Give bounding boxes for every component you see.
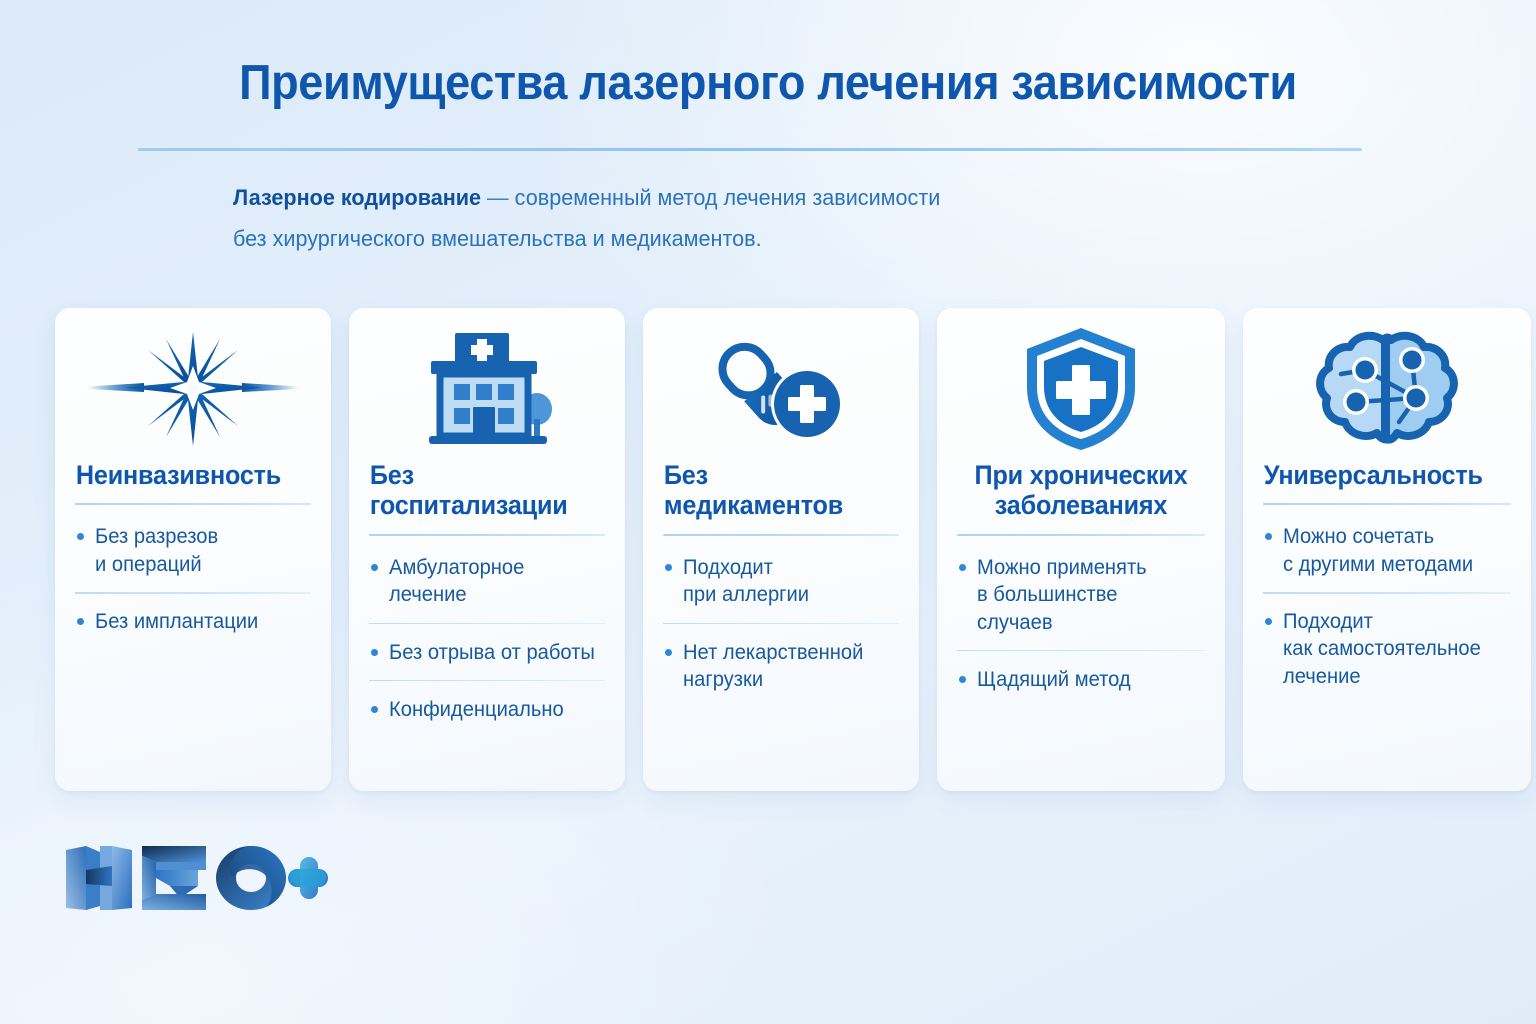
bullet-dot-icon — [959, 564, 966, 571]
card-title-divider — [1263, 503, 1511, 505]
card-title-divider — [663, 534, 899, 536]
bullet-text: Без разрезови операций — [95, 523, 218, 578]
benefit-card-row: Неинвазивность Без разрезови операций Бе… — [55, 308, 1483, 791]
bullet-dot-icon — [371, 706, 378, 713]
bullet-dot-icon — [959, 676, 966, 683]
bullet-dot-icon — [77, 618, 84, 625]
bullet-text: Без имплантации — [95, 608, 258, 635]
list-item: Подходитпри аллергии — [663, 538, 899, 609]
card-icon-zone — [1243, 308, 1531, 460]
list-item: Амбулаторноелечение — [369, 538, 605, 609]
list-item: Без разрезови операций — [75, 507, 311, 578]
subtitle-dash: — — [481, 185, 515, 210]
list-item: Можно сочетатьс другими методами — [1263, 507, 1511, 578]
list-item: Нет лекарственнойнагрузки — [663, 623, 899, 694]
card-title: Универсальность — [1243, 460, 1517, 490]
card-title: Без госпитализации — [349, 460, 611, 521]
neo-plus-logo-icon — [60, 838, 330, 918]
card-bullet-list: Подходитпри аллергии Нет лекарственнойна… — [643, 538, 919, 693]
card-title: Без медикаментов — [643, 460, 905, 521]
card-title: Неинвазивность — [55, 460, 317, 490]
pills-icon — [706, 328, 856, 450]
bullet-text: Конфиденциально — [389, 696, 564, 723]
card-icon-zone — [349, 308, 625, 460]
list-item: Конфиденциально — [369, 680, 605, 723]
benefit-card-noninvasive[interactable]: Неинвазивность Без разрезови операций Бе… — [55, 308, 331, 791]
bullet-text: Подходитпри аллергии — [683, 554, 809, 609]
bullet-dot-icon — [371, 564, 378, 571]
bullet-dot-icon — [1265, 533, 1272, 540]
bullet-text: Без отрыва от работы — [389, 639, 595, 666]
benefit-card-universality[interactable]: Универсальность Можно сочетатьс другими … — [1243, 308, 1531, 791]
subtitle: Лазерное кодирование — современный метод… — [233, 178, 1174, 260]
card-bullet-list: Можно применятьв большинстве случаев Щад… — [937, 538, 1225, 693]
bullet-dot-icon — [665, 564, 672, 571]
bullet-dot-icon — [371, 649, 378, 656]
brain-network-icon — [1311, 330, 1463, 448]
card-title-divider — [369, 534, 605, 536]
list-item: Можно применятьв большинстве случаев — [957, 538, 1205, 636]
card-bullet-list: Можно сочетатьс другими методами Подходи… — [1243, 507, 1531, 689]
bullet-text: Подходиткак самостоятельноелечение — [1283, 608, 1481, 690]
bullet-dot-icon — [1265, 618, 1272, 625]
subtitle-lead: Лазерное кодирование — [233, 185, 481, 210]
card-title: При хроническихзаболеваниях — [944, 460, 1218, 521]
card-icon-zone — [55, 308, 331, 460]
bullet-text: Щадящий метод — [977, 666, 1131, 693]
infographic-poster: Преимущества лазерного лечения зависимос… — [0, 0, 1536, 1024]
benefit-card-chronic-conditions[interactable]: При хроническихзаболеваниях Можно примен… — [937, 308, 1225, 791]
list-item: Подходиткак самостоятельноелечение — [1263, 592, 1511, 690]
brand-logo[interactable] — [60, 838, 330, 918]
card-icon-zone — [937, 308, 1225, 460]
card-title-divider — [75, 503, 311, 505]
list-item: Без отрыва от работы — [369, 623, 605, 666]
subtitle-rest: современный метод лечения зависимости — [515, 185, 941, 210]
subtitle-line2: без хирургического вмешательства и медик… — [233, 219, 1174, 260]
card-bullet-list: Без разрезови операций Без имплантации — [55, 507, 331, 635]
poster-header: Преимущества лазерного лечения зависимос… — [0, 56, 1536, 111]
page-title: Преимущества лазерного лечения зависимос… — [61, 56, 1474, 111]
list-item: Щадящий метод — [957, 650, 1205, 693]
bullet-text: Можно применятьв большинстве случаев — [977, 554, 1196, 636]
shield-cross-icon — [1019, 325, 1143, 453]
laser-burst-icon — [88, 330, 298, 448]
bullet-dot-icon — [77, 533, 84, 540]
benefit-card-no-hospitalization[interactable]: Без госпитализации Амбулаторноелечение Б… — [349, 308, 625, 791]
list-item: Без имплантации — [75, 592, 311, 635]
benefit-card-no-medication[interactable]: Без медикаментов Подходитпри аллергии Не… — [643, 308, 919, 791]
card-icon-zone — [643, 308, 919, 460]
card-title-divider — [957, 534, 1205, 536]
bullet-dot-icon — [665, 649, 672, 656]
bullet-text: Амбулаторноелечение — [389, 554, 524, 609]
bullet-text: Нет лекарственнойнагрузки — [683, 639, 863, 694]
title-divider — [138, 148, 1362, 151]
hospital-building-icon — [407, 327, 567, 451]
bullet-text: Можно сочетатьс другими методами — [1283, 523, 1473, 578]
card-bullet-list: Амбулаторноелечение Без отрыва от работы… — [349, 538, 625, 723]
